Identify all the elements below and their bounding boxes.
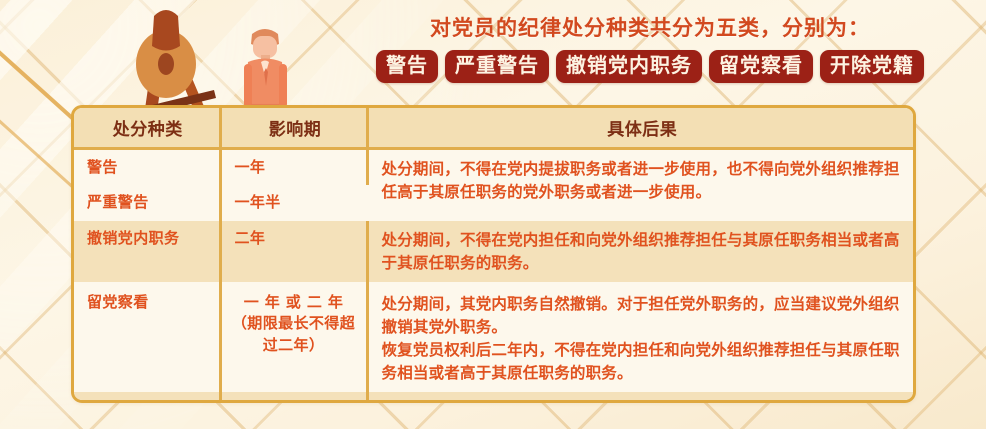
cell-period-revoke-post: 二年	[220, 221, 367, 282]
column-header-period: 影响期	[220, 108, 367, 148]
table-row: 留党察看 一 年 或 二 年（期限最长不得超过二年） 处分期间，其党内职务自然撤…	[74, 282, 913, 392]
cell-period-expulsion: 受到处分后五年	[220, 392, 367, 404]
table-header-row: 处分种类 影响期 具体后果	[74, 108, 913, 148]
cell-consequence-warning: 处分期间，不得在党内提拔职务或者进一步使用，也不得向党外组织推荐担任高于其原任职…	[367, 148, 913, 221]
cell-kind-probation: 留党察看	[74, 282, 220, 392]
cell-consequence-probation: 处分期间，其党内职务自然撤销。对于担任党外职务的，应当建议党外组织撤销其党外职务…	[367, 282, 913, 392]
cell-kind-revoke-post: 撤销党内职务	[74, 221, 220, 282]
discipline-table-container: 处分种类 影响期 具体后果 警告 一年 处分期间，不得在党内提拔职务或者进一步使…	[71, 105, 916, 403]
cell-kind-warning: 警告	[74, 148, 220, 185]
badge-expulsion[interactable]: 开除党籍	[820, 50, 924, 83]
table-row: 开除党籍 受到处分后五年 不得重新入党，也不得推荐担任与其原任职务相当或者高于其…	[74, 392, 913, 404]
table-row: 警告 一年 处分期间，不得在党内提拔职务或者进一步使用，也不得向党外组织推荐担任…	[74, 148, 913, 185]
cell-consequence-revoke-post: 处分期间，不得在党内担任和向党外组织推荐担任与其原任职务相当或者高于其原任职务的…	[367, 221, 913, 282]
column-header-consequence: 具体后果	[367, 108, 913, 148]
badge-warning[interactable]: 警告	[376, 50, 438, 83]
discipline-badge-list: 警告 严重警告 撤销党内职务 留党察看 开除党籍	[322, 50, 978, 83]
column-header-kind: 处分种类	[74, 108, 220, 148]
cell-period-warning: 一年	[220, 148, 367, 185]
cell-kind-expulsion: 开除党籍	[74, 392, 220, 404]
cell-period-probation: 一 年 或 二 年（期限最长不得超过二年）	[220, 282, 367, 392]
consequence-paragraph: 恢复党员权利后二年内，不得在党内担任和向党外组织推荐担任与其原任职务相当或者高于…	[382, 338, 904, 385]
cell-consequence-expulsion: 不得重新入党，也不得推荐担任与其原任职务相当或者高于其原任职务的党外职务。	[367, 392, 913, 404]
badge-revoke-party-post[interactable]: 撤销党内职务	[556, 50, 702, 83]
table-row: 撤销党内职务 二年 处分期间，不得在党内担任和向党外组织推荐担任与其原任职务相当…	[74, 221, 913, 282]
consequence-paragraph: 处分期间，其党内职务自然撤销。对于担任党外职务的，应当建议党外组织撤销其党外职务…	[382, 292, 904, 339]
page-title: 对党员的纪律处分种类共分为五类，分别为：	[330, 12, 970, 42]
discipline-table: 处分种类 影响期 具体后果 警告 一年 处分期间，不得在党内提拔职务或者进一步使…	[74, 108, 913, 403]
infographic-poster: 对党员的纪律处分种类共分为五类，分别为： 警告 严重警告 撤销党内职务 留党察看…	[0, 0, 986, 429]
cell-period-serious-warning: 一年半	[220, 185, 367, 221]
badge-probation[interactable]: 留党察看	[709, 50, 813, 83]
badge-serious-warning[interactable]: 严重警告	[445, 50, 549, 83]
cell-kind-serious-warning: 严重警告	[74, 185, 220, 221]
